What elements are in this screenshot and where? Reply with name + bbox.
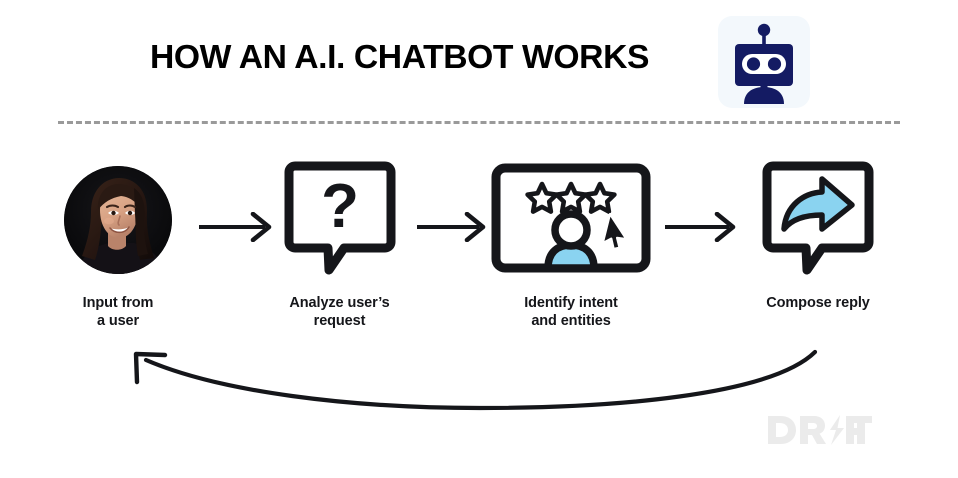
flow-step-compose-reply: Compose reply <box>728 160 908 312</box>
flow-step-label: Input from a user <box>38 294 198 330</box>
flow-step-label: Identify intent and entities <box>482 294 660 330</box>
flow-step-label: Analyze user’s request <box>262 294 417 330</box>
step-artwork <box>728 160 908 280</box>
step-artwork <box>38 160 198 280</box>
robot-icon <box>718 16 810 108</box>
reply-arrow-speech-bubble-icon <box>760 157 876 284</box>
curved-loop-arrow-icon <box>110 334 850 412</box>
page-title: HOW AN A.I. CHATBOT WORKS <box>150 38 721 76</box>
flow-step-identify-intent: Identify intent and entities <box>482 160 660 330</box>
flow-step-input-from-user: Input from a user <box>38 160 198 330</box>
header: HOW AN A.I. CHATBOT WORKS <box>0 0 958 110</box>
process-flow: Input from a user ? Analyze user’s reque… <box>0 160 958 340</box>
arrow-right-icon <box>415 212 493 242</box>
flow-step-analyze-request: ? Analyze user’s request <box>262 160 417 330</box>
step-artwork: ? <box>262 160 417 280</box>
question-speech-bubble-icon: ? <box>282 157 398 284</box>
user-photo-avatar <box>64 166 172 274</box>
svg-text:?: ? <box>321 172 359 241</box>
infographic-canvas: HOW AN A.I. CHATBOT WORKS <box>0 0 958 478</box>
section-divider <box>58 121 900 124</box>
flow-step-label: Compose reply <box>728 294 908 312</box>
step-artwork <box>482 160 660 280</box>
arrow-right-icon <box>663 212 743 242</box>
arrow-right-icon <box>197 212 279 242</box>
intent-card-icon <box>490 160 652 281</box>
drift-logo <box>768 414 872 446</box>
